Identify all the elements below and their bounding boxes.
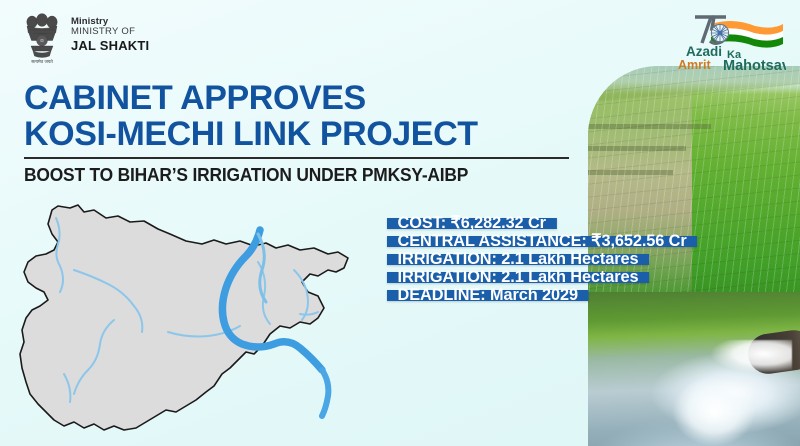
stat-irrigation-2: IRRIGATION: 2.1 Lakh Hectares [387, 272, 649, 283]
azadi-ka-amrit-mahotsav-logo: Azadi Ka Amrit Mahotsav [664, 8, 786, 72]
stat-irrigation: IRRIGATION: 2.1 Lakh Hectares [387, 254, 649, 265]
field-bund [588, 124, 711, 129]
emblem-motto: सत्यमेव जयते [31, 59, 53, 65]
bihar-outline [20, 205, 348, 430]
ministry-logo: सत्यमेव जयते Ministry MINISTRY OF JAL SH… [22, 10, 149, 68]
irrigation-water-pipe-photo [588, 292, 800, 446]
stat-central-assistance: CENTRAL ASSISTANCE: ₹3,652.56 Cr [387, 236, 697, 247]
ministry-line3: JAL SHAKTI [71, 39, 149, 53]
amrit-word-azadi: Azadi [686, 44, 722, 59]
headline-line-1: CABINET APPROVES [24, 82, 584, 115]
bihar-state-map: BIHAR Kosi Mechi Mechi River [18, 196, 388, 446]
field-bund [588, 170, 673, 175]
stats-list: COST: ₹6,282.32 Cr CENTRAL ASSISTANCE: ₹… [387, 218, 710, 308]
headline-subtitle: BOOST TO BIHAR’S IRRIGATION UNDER PMKSY-… [24, 164, 550, 186]
ministry-text-block: Ministry MINISTRY OF JAL SHAKTI [71, 10, 149, 53]
stat-cost: COST: ₹6,282.32 Cr [387, 218, 556, 229]
amrit-word-amrit: Amrit [678, 58, 711, 72]
ministry-line2: MINISTRY OF [71, 27, 149, 37]
field-bund [588, 146, 686, 151]
headline-divider [24, 157, 569, 159]
stat-deadline: DEADLINE: March 2029 [387, 290, 588, 301]
ashoka-lion-capital-emblem: सत्यमेव जयते [22, 10, 62, 68]
headline-block: CABINET APPROVES KOSI-MECHI LINK PROJECT… [24, 82, 584, 186]
mechi-river-tail [322, 370, 328, 416]
amrit-word-mahotsav: Mahotsav [723, 58, 786, 72]
headline-line-2: KOSI-MECHI LINK PROJECT [24, 118, 584, 151]
